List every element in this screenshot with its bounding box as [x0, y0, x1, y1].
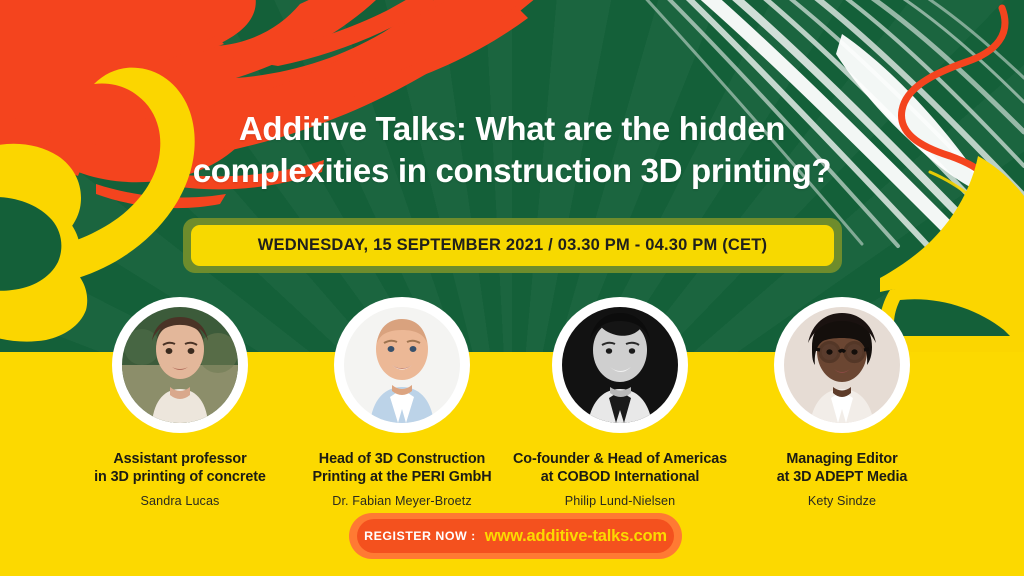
speaker-role-line-1: Assistant professor	[113, 451, 246, 467]
speaker-role-line-2: at COBOD International	[541, 469, 700, 485]
speaker-card-4: Managing Editor at 3D ADEPT Media Kety S…	[727, 302, 957, 508]
register-label: REGISTER NOW :	[364, 529, 476, 543]
speaker-role-line-2: in 3D printing of concrete	[94, 469, 266, 485]
speaker-role-line-1: Co-founder & Head of Americas	[513, 451, 727, 467]
register-url[interactable]: www.additive-talks.com	[485, 527, 667, 546]
date-banner: WEDNESDAY, 15 SEPTEMBER 2021 / 03.30 PM …	[191, 225, 834, 266]
poster-title: Additive Talks: What are the hidden comp…	[0, 108, 1024, 191]
speaker-name: Kety Sindze	[727, 494, 957, 508]
speaker-role: Managing Editor at 3D ADEPT Media	[727, 450, 957, 487]
title-line-2: complexities in construction 3D printing…	[0, 150, 1024, 192]
speaker-name: Philip Lund-Nielsen	[505, 494, 735, 508]
avatar	[339, 302, 465, 428]
register-now-button[interactable]: REGISTER NOW : www.additive-talks.com	[357, 519, 674, 553]
speaker-role-line-1: Managing Editor	[786, 451, 897, 467]
avatar	[557, 302, 683, 428]
speaker-role-line-1: Head of 3D Construction	[319, 451, 485, 467]
speaker-name: Sandra Lucas	[65, 494, 295, 508]
title-line-1: Additive Talks: What are the hidden	[239, 110, 785, 147]
speaker-name: Dr. Fabian Meyer-Broetz	[287, 494, 517, 508]
speaker-role: Co-founder & Head of Americas at COBOD I…	[505, 450, 735, 487]
speaker-photo-sandra-lucas	[122, 307, 238, 423]
speaker-role-line-2: at 3D ADEPT Media	[777, 469, 908, 485]
speaker-card-1: Assistant professor in 3D printing of co…	[65, 302, 295, 508]
speaker-role: Head of 3D Construction Printing at the …	[287, 450, 517, 487]
avatar	[779, 302, 905, 428]
speaker-card-2: Head of 3D Construction Printing at the …	[287, 302, 517, 508]
webinar-poster: Additive Talks: What are the hidden comp…	[0, 0, 1024, 576]
avatar	[117, 302, 243, 428]
speaker-photo-kety-sindze	[784, 307, 900, 423]
speaker-photo-fabian-meyer-broetz	[344, 307, 460, 423]
speaker-card-3: Co-founder & Head of Americas at COBOD I…	[505, 302, 735, 508]
speaker-photo-philip-lund-nielsen	[562, 307, 678, 423]
speaker-role: Assistant professor in 3D printing of co…	[65, 450, 295, 487]
speaker-role-line-2: Printing at the PERI GmbH	[313, 469, 492, 485]
date-banner-text: WEDNESDAY, 15 SEPTEMBER 2021 / 03.30 PM …	[258, 236, 767, 255]
